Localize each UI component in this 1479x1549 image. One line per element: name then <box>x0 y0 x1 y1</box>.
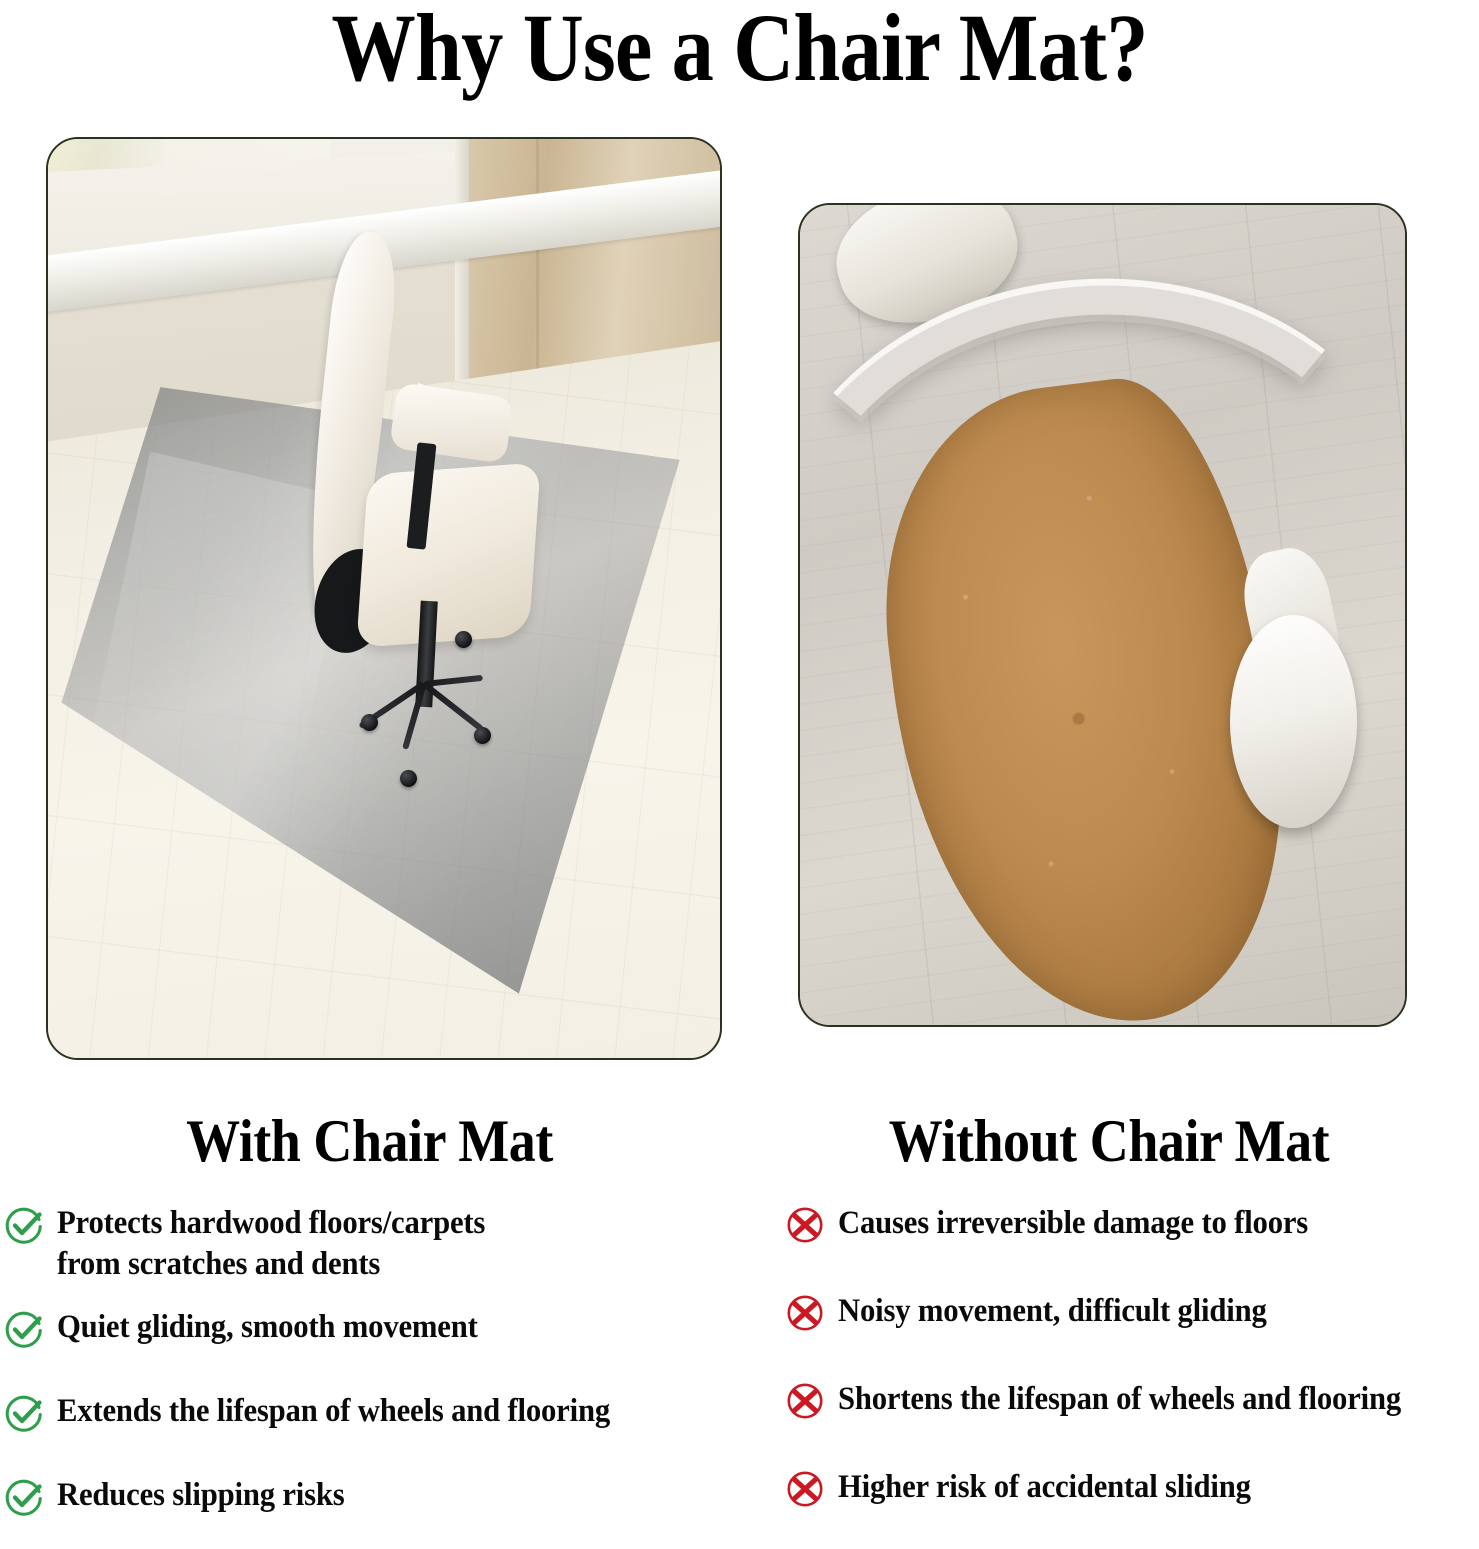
photo-without-chair-mat <box>798 203 1407 1027</box>
office-chair <box>270 231 579 893</box>
list-item-label: Protects hardwood floors/carpets from sc… <box>57 1203 485 1285</box>
photo-with-chair-mat <box>46 137 722 1060</box>
check-circle-icon <box>4 1393 44 1433</box>
cross-circle-icon <box>785 1469 825 1509</box>
list-item: Causes irreversible damage to floors <box>783 1203 1479 1255</box>
check-circle-icon <box>4 1205 44 1245</box>
list-item: Quiet gliding, smooth movement <box>0 1307 739 1359</box>
cross-circle-icon <box>785 1205 825 1245</box>
list-item-label: Causes irreversible damage to floors <box>838 1203 1308 1244</box>
list-item: Higher risk of accidental sliding <box>783 1467 1479 1519</box>
heading-without-chair-mat: Without Chair Mat <box>776 1108 1442 1174</box>
chair-caster <box>361 714 378 731</box>
cross-circle-icon <box>785 1381 825 1421</box>
list-item: Noisy movement, difficult gliding <box>783 1291 1479 1343</box>
list-item-label: Quiet gliding, smooth movement <box>57 1307 478 1348</box>
list-item-label: Higher risk of accidental sliding <box>838 1467 1251 1508</box>
chair-caster <box>400 770 417 787</box>
list-item-label: Noisy movement, difficult gliding <box>838 1291 1267 1332</box>
page-title: Why Use a Chair Mat? <box>89 0 1391 100</box>
check-circle-icon <box>4 1309 44 1349</box>
chair-caster-wheel <box>1230 615 1357 828</box>
heading-with-chair-mat: With Chair Mat <box>37 1108 702 1174</box>
chair-seat <box>357 462 542 647</box>
chair-caster <box>455 631 472 648</box>
check-circle-icon <box>4 1477 44 1517</box>
drawbacks-list: Causes irreversible damage to floors Noi… <box>783 1203 1479 1541</box>
list-item: Extends the lifespan of wheels and floor… <box>0 1391 739 1443</box>
damaged-floor-photo <box>800 205 1405 1025</box>
list-item-label: Shortens the lifespan of wheels and floo… <box>838 1379 1401 1420</box>
list-item-label: Reduces slipping risks <box>57 1475 345 1516</box>
list-item: Protects hardwood floors/carpets from sc… <box>0 1203 739 1285</box>
list-item-label: Extends the lifespan of wheels and floor… <box>57 1391 610 1432</box>
chair-caster <box>474 727 491 744</box>
benefits-list: Protects hardwood floors/carpets from sc… <box>0 1203 739 1549</box>
chair-armrest <box>389 382 515 464</box>
chair-on-mat-photo <box>48 139 720 1058</box>
cross-circle-icon <box>785 1293 825 1333</box>
list-item: Reduces slipping risks <box>0 1475 739 1527</box>
list-item: Shortens the lifespan of wheels and floo… <box>783 1379 1479 1431</box>
